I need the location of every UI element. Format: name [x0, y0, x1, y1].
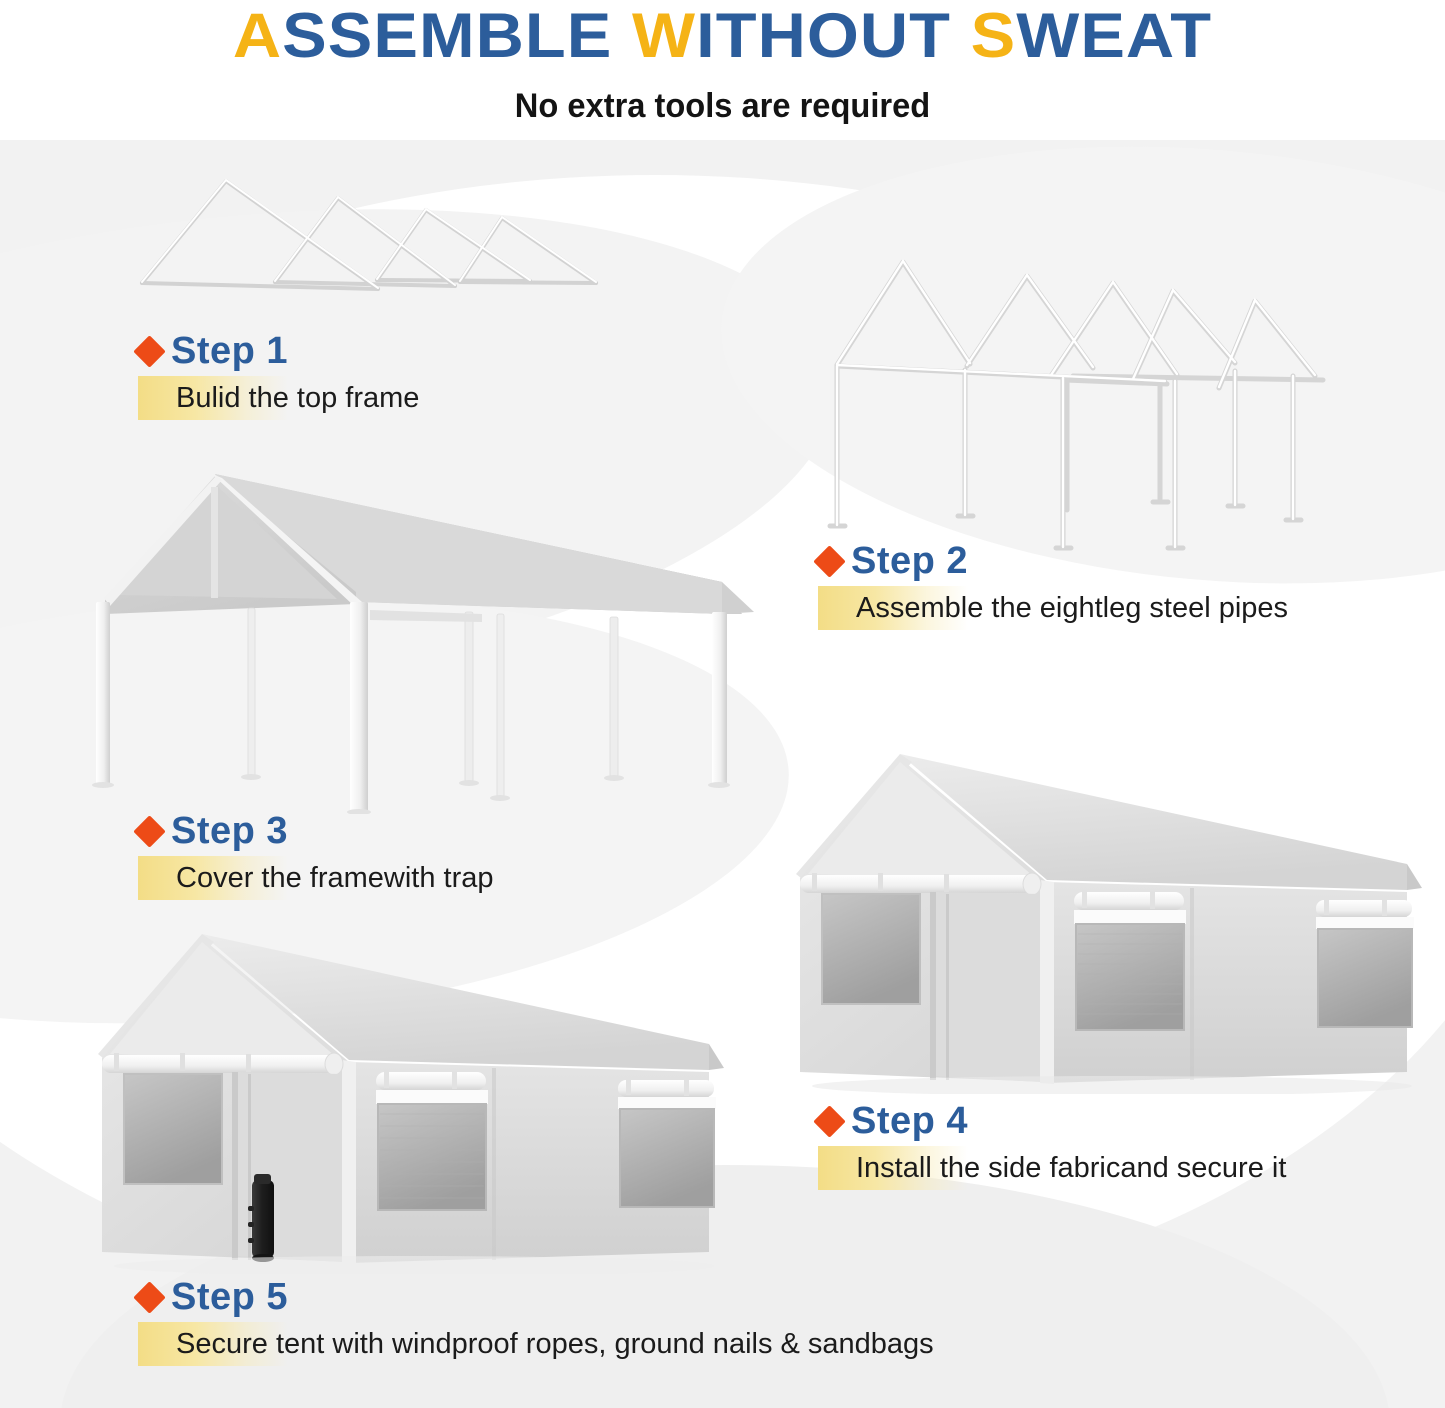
step-4-description: Install the side fabricand secure it: [818, 1151, 1286, 1185]
step-4-description-row: Install the side fabricand secure it: [818, 1146, 1286, 1190]
page-subtitle: No extra tools are required: [29, 70, 1416, 126]
illustration-step-1-flat-roof-trusses: [130, 170, 630, 300]
step-3-callout: Step 3 Cover the framewith trap: [138, 810, 494, 900]
illustration-step-5-enclosed-tent-with-sandbag: [84, 922, 724, 1274]
step-3-description: Cover the framewith trap: [138, 861, 494, 895]
step-3-description-row: Cover the framewith trap: [138, 856, 494, 900]
step-4-title: Step 4: [851, 1100, 968, 1142]
illustration-step-4-enclosed-tent: [782, 742, 1422, 1094]
step-2-description: Assemble the eightleg steel pipes: [818, 591, 1288, 625]
step-5-heading: Step 5: [138, 1276, 934, 1318]
step-1-callout: Step 1 Bulid the top frame: [138, 330, 419, 420]
step-3-title: Step 3: [171, 810, 288, 852]
title-segment-4: ITHOUT: [696, 1, 971, 71]
title-segment-2: SSEMBLE: [282, 1, 632, 71]
step-5-callout: Step 5 Secure tent with windproof ropes,…: [138, 1276, 934, 1366]
title-segment-5: S: [971, 1, 1017, 71]
step-2-title: Step 2: [851, 540, 968, 582]
step-2-description-row: Assemble the eightleg steel pipes: [818, 586, 1288, 630]
diamond-bullet-icon: [133, 335, 166, 368]
step-2-heading: Step 2: [818, 540, 1288, 582]
diamond-bullet-icon: [133, 1281, 166, 1314]
illustration-step-3-canopy-with-roof-tarp: [82, 462, 762, 814]
step-5-description: Secure tent with windproof ropes, ground…: [138, 1327, 934, 1361]
title-segment-3: W: [632, 1, 696, 71]
page-title: ASSEMBLE WITHOUT SWEAT: [0, 0, 1445, 70]
step-3-heading: Step 3: [138, 810, 494, 852]
step-1-description-row: Bulid the top frame: [138, 376, 419, 420]
diamond-bullet-icon: [813, 1105, 846, 1138]
step-5-description-row: Secure tent with windproof ropes, ground…: [138, 1322, 934, 1366]
step-4-callout: Step 4 Install the side fabricand secure…: [818, 1100, 1286, 1190]
title-segment-1: A: [233, 1, 282, 71]
step-5-title: Step 5: [171, 1276, 288, 1318]
step-2-callout: Step 2 Assemble the eightleg steel pipes: [818, 540, 1288, 630]
step-1-description: Bulid the top frame: [138, 381, 419, 415]
diamond-bullet-icon: [813, 545, 846, 578]
step-1-heading: Step 1: [138, 330, 419, 372]
step-4-heading: Step 4: [818, 1100, 1286, 1142]
header: ASSEMBLE WITHOUT SWEAT No extra tools ar…: [0, 0, 1445, 126]
illustration-step-2-erected-pipe-frame: [815, 258, 1335, 558]
title-segment-6: WEAT: [1016, 1, 1212, 71]
step-1-title: Step 1: [171, 330, 288, 372]
diamond-bullet-icon: [133, 815, 166, 848]
